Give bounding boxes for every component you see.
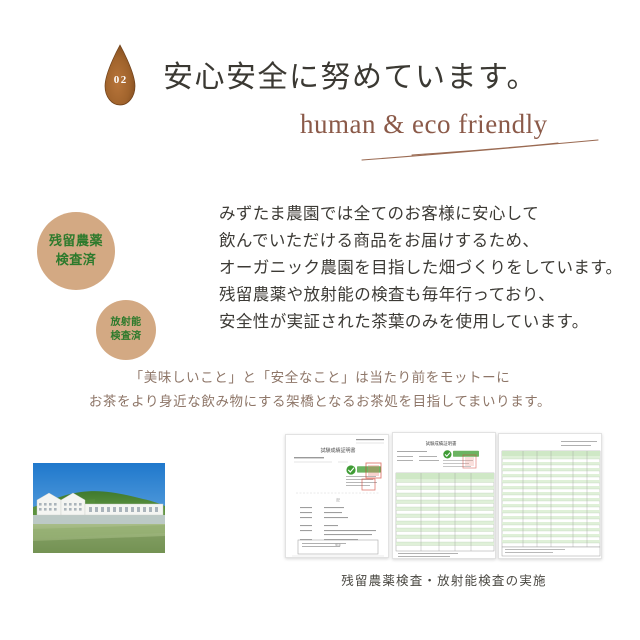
- certificate-page-1: 試験成績証明書: [285, 434, 389, 558]
- certificate-page-2-content: 試験成績証明書: [393, 433, 496, 559]
- certificate-page-1-box: [286, 435, 389, 558]
- motto-line-2: お茶をより身近な飲み物にする架橋となるお茶処を目指してまいります。: [20, 390, 620, 414]
- certificate-documents: 試験成績証明書: [283, 430, 605, 562]
- badge-radiation-line2: 検査済: [111, 330, 142, 345]
- body-line-5: 安全性が実証された茶葉のみを使用しています。: [219, 308, 619, 335]
- page-root: 02 安心安全に努めています。 human & eco friendly 残留農…: [0, 0, 640, 640]
- certificate-page-2: 試験成績証明書: [392, 432, 496, 559]
- badge-pesticide-line2: 検査済: [56, 251, 97, 270]
- farm-photo-illustration: [33, 463, 165, 553]
- body-line-4: 残留農薬や放射能の検査も毎年行っており、: [219, 281, 619, 308]
- body-line-3: オーガニック農園を目指した畑づくりをしています。: [219, 254, 619, 281]
- page-title: 安心安全に努めています。: [163, 52, 538, 96]
- page-subtitle: human & eco friendly: [300, 109, 548, 140]
- body-paragraph: みずたま農園では全てのお客様に安心して 飲んでいただける商品をお届けするため、 …: [219, 200, 619, 335]
- motto-line-1: 「美味しいこと」と「安全なこと」は当たり前をモットーに: [20, 366, 620, 390]
- certificate-page-3-content: [499, 434, 602, 559]
- body-line-2: 飲んでいただける商品をお届けするため、: [219, 227, 619, 254]
- result-table: [396, 473, 494, 551]
- documents-caption: 残留農薬検査・放射能検査の実施: [283, 570, 605, 589]
- underline-swash-icon: [360, 138, 600, 164]
- step-number: 02: [103, 74, 137, 86]
- badge-pesticide: 残留農薬 検査済: [37, 212, 115, 290]
- header-section: 02 安心安全に努めています。 human & eco friendly: [0, 0, 640, 170]
- motto-text: 「美味しいこと」と「安全なこと」は当たり前をモットーに お茶をより身近な飲み物に…: [20, 366, 620, 414]
- badge-pesticide-line1: 残留農薬: [49, 232, 103, 251]
- certificate-page-3: [498, 433, 602, 559]
- badge-radiation-line1: 放射能: [111, 316, 142, 331]
- body-line-1: みずたま農園では全てのお客様に安心して: [219, 200, 619, 227]
- result-table: [502, 451, 600, 556]
- farm-facility-photo: [33, 463, 165, 553]
- badge-radiation: 放射能 検査済: [96, 300, 156, 360]
- svg-text:試験成績証明書: 試験成績証明書: [426, 440, 457, 447]
- step-badge: 02: [103, 44, 137, 106]
